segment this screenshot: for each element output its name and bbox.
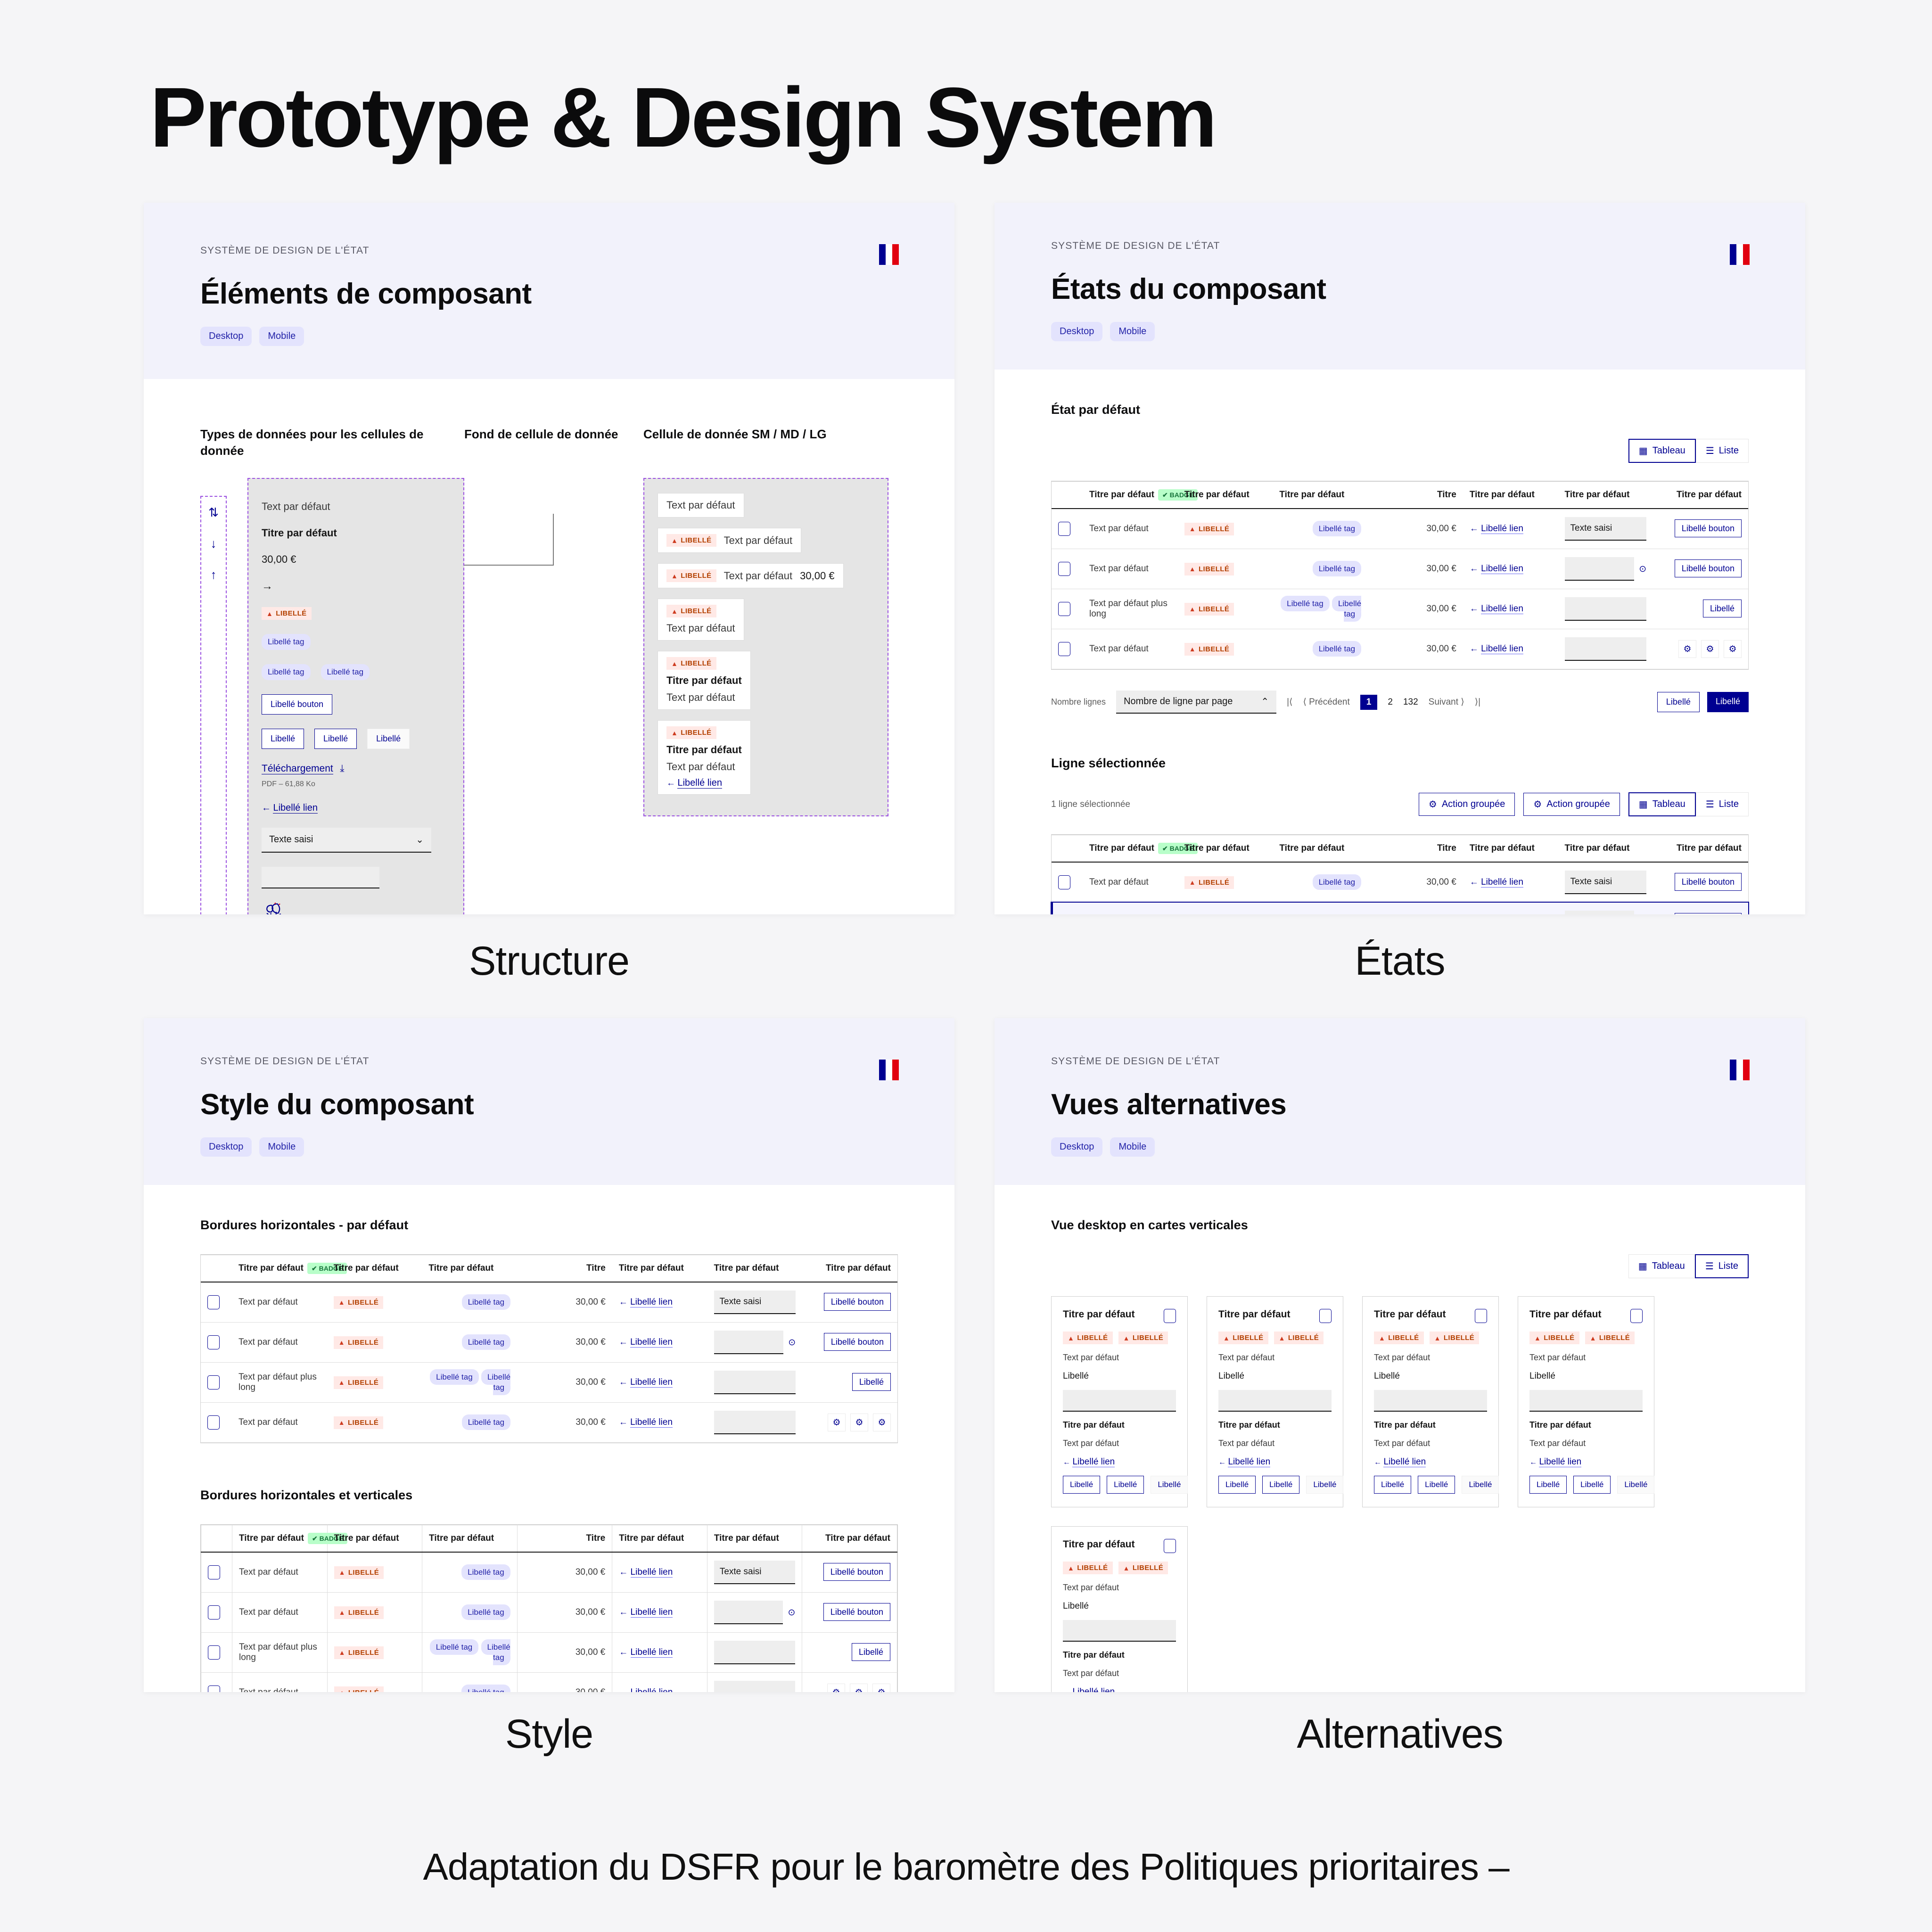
tag-chip[interactable]: Libellé tag (1281, 596, 1330, 611)
card-text: Text par défaut (1063, 1583, 1176, 1593)
row-checkbox-cell[interactable] (1052, 629, 1083, 669)
sample-button[interactable]: Libellé bouton (262, 694, 332, 715)
warning-triangle-icon: ▲ (1534, 1334, 1541, 1342)
cell-tags: Libellé tag (422, 1282, 517, 1323)
th-1[interactable]: Titre par défaut (1178, 482, 1273, 509)
chevron-down-icon: ⌄ (416, 834, 424, 846)
cell-alert: LIBELLÉ (681, 572, 711, 580)
row-link[interactable]: Libellé lien (630, 1417, 673, 1428)
tag-chip[interactable]: Libellé tag (1313, 874, 1362, 890)
row-link[interactable]: Libellé lien (630, 1297, 673, 1307)
th-3[interactable]: Titre (517, 1525, 612, 1553)
cell-action: Libellé bouton (802, 1282, 897, 1323)
viewport-chips: Desktop Mobile (1051, 1137, 1749, 1157)
back-link-block: ← Libellé lien (262, 803, 318, 814)
card-button-2[interactable]: Libellé (1418, 1476, 1455, 1494)
cell-tags: Libellé tag (1273, 629, 1368, 669)
row-link[interactable]: Libellé lien (631, 1687, 673, 1692)
row-action-button[interactable]: Libellé (852, 1643, 890, 1661)
tab-liste[interactable]: ☰Liste (1696, 439, 1749, 463)
chip-mobile[interactable]: Mobile (259, 1137, 304, 1157)
warning-triangle-icon: ▲ (671, 572, 678, 580)
list-icon: ☰ (1705, 1260, 1714, 1272)
row-checkbox-cell[interactable] (1052, 903, 1083, 915)
pager-button-secondary[interactable]: Libellé (1657, 692, 1700, 712)
gear-icon: ⚙ (1429, 798, 1437, 810)
row-checkbox-cell[interactable] (201, 1282, 232, 1323)
chip-desktop[interactable]: Desktop (1051, 1137, 1102, 1157)
row-checkbox-cell[interactable] (201, 1552, 232, 1593)
row-link[interactable]: Libellé lien (1481, 524, 1523, 534)
card-checkbox[interactable] (1630, 1309, 1643, 1323)
cell-link: ← Libellé lien (612, 1593, 707, 1633)
prev-page-button[interactable]: ⟨ Précédent (1303, 697, 1349, 707)
th-4[interactable]: Titre par défaut (612, 1255, 707, 1283)
table-row[interactable]: Text par défaut ▲LIBELLÉ Libellé tag 30,… (1052, 549, 1748, 589)
th-5[interactable]: Titre par défaut (1558, 482, 1653, 509)
help-circle-icon[interactable]: ⊙ (788, 1337, 796, 1348)
card-button-2[interactable]: Libellé (1262, 1476, 1299, 1494)
tag-chip[interactable]: Libellé tag (481, 1369, 510, 1395)
table-row[interactable]: Text par défaut ▲LIBELLÉ Libellé tag 30,… (1052, 903, 1748, 915)
row-text-input[interactable]: Texte saisi (1565, 517, 1647, 541)
th-select-all (1052, 835, 1083, 863)
th-3[interactable]: Titre (517, 1255, 612, 1283)
card-checkbox[interactable] (1164, 1539, 1176, 1553)
first-page-icon[interactable]: |⟨ (1287, 697, 1292, 707)
row-link[interactable]: Libellé lien (1481, 604, 1523, 614)
th-4[interactable]: Titre par défaut (1463, 835, 1558, 863)
chip-desktop[interactable]: Desktop (1051, 322, 1102, 341)
cell-price: 30,00 € (1368, 549, 1463, 589)
arrow-down-icon[interactable]: ↓ (211, 537, 217, 550)
card-button-3[interactable]: Libellé (1462, 1476, 1499, 1494)
row-action-button[interactable]: Libellé bouton (1675, 559, 1742, 577)
cell-text: Text par défaut (666, 499, 735, 511)
row-checkbox[interactable] (208, 1565, 220, 1579)
table-row[interactable]: Text par défaut ▲LIBELLÉ Libellé tag 30,… (1052, 629, 1748, 669)
th-2[interactable]: Titre par défaut (422, 1525, 518, 1553)
th-6[interactable]: Titre par défaut (1653, 482, 1748, 509)
arrow-left-icon: ← (619, 1297, 628, 1307)
table-row[interactable]: Text par défaut ▲LIBELLÉ Libellé tag 30,… (201, 1403, 897, 1443)
row-checkbox-cell[interactable] (201, 1403, 232, 1443)
view-toolbar: ▦Tableau ☰Liste (1051, 439, 1749, 463)
gear-icon[interactable]: ⚙ (1678, 640, 1696, 658)
tab-liste[interactable]: ☰Liste (1696, 792, 1749, 816)
row-checkbox[interactable] (208, 1605, 220, 1620)
cell-action: Libellé bouton (802, 1552, 897, 1593)
vertical-card[interactable]: Titre par défaut ▲LIBELLÉ▲LIBELLÉ Text p… (1051, 1526, 1188, 1692)
row-text-input[interactable] (714, 1681, 796, 1692)
th-6[interactable]: Titre par défaut (802, 1255, 897, 1283)
next-page-button[interactable]: Suivant ⟩ (1429, 697, 1464, 707)
cell-price: 30,00 € (1368, 862, 1463, 903)
tag-chip[interactable]: Libellé tag (262, 634, 311, 650)
vertical-card[interactable]: Titre par défaut ▲LIBELLÉ▲LIBELLÉ Text p… (1362, 1296, 1499, 1507)
row-text-input[interactable]: Texte saisi (1565, 871, 1647, 894)
vertical-card[interactable]: Titre par défaut ▲LIBELLÉ▲LIBELLÉ Text p… (1051, 1296, 1188, 1507)
cell-alert: ▲LIBELLÉ (1178, 903, 1273, 915)
th-3[interactable]: Titre (1368, 482, 1463, 509)
card-text-input[interactable] (1529, 1390, 1643, 1412)
warning-triangle-icon: ▲ (339, 1609, 345, 1616)
gear-icon[interactable]: ⚙ (1724, 640, 1742, 658)
row-action-button[interactable]: Libellé bouton (824, 1333, 891, 1351)
row-link[interactable]: Libellé lien (1481, 877, 1523, 888)
th-2[interactable]: Titre par défaut (1273, 835, 1368, 863)
table-wrapper-selected: Titre par défaut✔ BADGE Titre par défaut… (1051, 834, 1749, 914)
table-row[interactable]: Text par défaut ▲LIBELLÉ Libellé tag 30,… (201, 1323, 897, 1363)
gear-icon[interactable]: ⚙ (828, 1414, 846, 1431)
row-action-button[interactable]: Libellé (852, 1373, 891, 1391)
row-text-input[interactable] (714, 1411, 796, 1434)
french-flag-icon (879, 1060, 899, 1080)
row-link[interactable]: Libellé lien (1481, 564, 1523, 574)
button-primary-outline[interactable]: Libellé (262, 729, 304, 749)
chip-desktop[interactable]: Desktop (200, 1137, 252, 1157)
mock-window-structure: SYSTÈME DE DESIGN DE L'ÉTAT Éléments de … (144, 203, 954, 914)
card-button-3[interactable]: Libellé (1617, 1476, 1654, 1494)
cell-variant-text: Text par défaut (658, 493, 744, 518)
warning-triangle-icon: ▲ (1189, 645, 1196, 653)
card-sub-title: Titre par défaut (1063, 1650, 1176, 1660)
th-5[interactable]: Titre par défaut (1558, 835, 1653, 863)
selection-toolbar: 1 ligne sélectionnée ⚙Action groupée ⚙Ac… (1051, 792, 1749, 816)
card-checkbox[interactable] (1319, 1309, 1332, 1323)
card-text-input[interactable] (1374, 1390, 1487, 1412)
row-checkbox[interactable] (1058, 642, 1070, 656)
tag-chip[interactable]: Libellé tag (481, 1639, 510, 1665)
gear-icon[interactable]: ⚙ (873, 1414, 891, 1431)
row-text-input[interactable] (714, 1371, 796, 1394)
cell-link[interactable]: Libellé lien (677, 778, 722, 789)
row-checkbox[interactable] (1058, 562, 1070, 576)
cell-variant-alert-stack: ▲LIBELLÉ Text par défaut (658, 599, 744, 641)
card-field-label: Libellé (1218, 1371, 1332, 1381)
th-2[interactable]: Titre par défaut (422, 1255, 517, 1283)
style-body: Bordures horizontales - par défaut Titre… (144, 1185, 954, 1692)
row-link[interactable]: Libellé lien (630, 1337, 673, 1348)
row-checkbox[interactable] (207, 1415, 220, 1430)
card-link[interactable]: Libellé lien (1539, 1457, 1581, 1467)
th-1[interactable]: Titre par défaut (327, 1255, 422, 1283)
viewport-chips: Desktop Mobile (1051, 322, 1749, 341)
table-row[interactable]: Text par défaut ▲LIBELLÉ Libellé tag 30,… (201, 1673, 897, 1693)
warning-triangle-icon: ▲ (1189, 605, 1196, 613)
arrow-left-icon: ← (619, 1647, 628, 1657)
row-checkbox[interactable] (208, 1645, 220, 1660)
back-link[interactable]: Libellé lien (273, 803, 318, 814)
tag-chip[interactable]: Libellé tag (430, 1369, 479, 1385)
th-5[interactable]: Titre par défaut (707, 1255, 803, 1283)
bulk-action-2[interactable]: ⚙Action groupée (1523, 793, 1620, 816)
table-row[interactable]: Text par défaut ▲LIBELLÉ Libellé tag 30,… (201, 1282, 897, 1323)
chip-mobile[interactable]: Mobile (259, 327, 304, 346)
row-text-input[interactable] (1565, 557, 1635, 581)
th-4[interactable]: Titre par défaut (612, 1525, 707, 1553)
row-checkbox[interactable] (207, 1295, 220, 1309)
data-cell-samples: Text par défaut Titre par défaut 30,00 €… (247, 478, 464, 914)
mock-window-etats: SYSTÈME DE DESIGN DE L'ÉTAT États du com… (995, 203, 1805, 914)
th-2[interactable]: Titre par défaut (1273, 482, 1368, 509)
text-input[interactable] (262, 867, 379, 888)
gear-icon[interactable]: ⚙ (850, 1414, 868, 1431)
arrow-left-icon: ← (1470, 877, 1479, 887)
tag-chip[interactable]: Libellé tag (461, 1564, 510, 1580)
th-select-all (1052, 482, 1083, 509)
arrow-left-icon: ← (1529, 1458, 1537, 1466)
page-2[interactable]: 2 (1388, 697, 1393, 707)
row-action-button[interactable]: Libellé bouton (1675, 873, 1742, 891)
card-alert-tags: ▲LIBELLÉ▲LIBELLÉ (1063, 1562, 1176, 1574)
cell-link: ← Libellé lien (612, 1323, 707, 1363)
page-132[interactable]: 132 (1403, 697, 1418, 707)
row-checkbox[interactable] (1058, 602, 1070, 616)
th-1[interactable]: Titre par défaut (327, 1525, 422, 1553)
row-text-input[interactable]: Texte saisi (714, 1561, 796, 1584)
card-link[interactable]: Libellé lien (1072, 1457, 1115, 1467)
card-button-1[interactable]: Libellé (1374, 1476, 1411, 1494)
cell-price: 30,00 € (517, 1593, 612, 1633)
structure-col2-title: Fond de cellule de donnée (464, 426, 643, 462)
pager-button-primary[interactable]: Libellé (1707, 692, 1749, 712)
dsfr-eyebrow: SYSTÈME DE DESIGN DE L'ÉTAT (200, 1056, 898, 1067)
data-table-hborders: Titre par défaut✔ BADGE Titre par défaut… (201, 1255, 897, 1443)
row-text-input[interactable] (1565, 911, 1635, 914)
card-alert-tags: ▲LIBELLÉ▲LIBELLÉ (1218, 1332, 1332, 1344)
panel-caption-alternatives: Alternatives (995, 1711, 1805, 1758)
card-buttons: Libellé Libellé Libellé (1529, 1476, 1643, 1494)
row-text-input[interactable] (714, 1601, 783, 1624)
row-checkbox[interactable] (207, 1375, 220, 1389)
row-checkbox[interactable] (207, 1335, 220, 1349)
sort-controls[interactable]: ⇅ ↓ ↑ (200, 496, 227, 914)
row-link[interactable]: Libellé lien (1481, 644, 1523, 654)
tag-chip[interactable]: Libellé tag (462, 1334, 511, 1350)
row-checkbox[interactable] (1058, 875, 1070, 889)
table-row[interactable]: Text par défaut plus long ▲LIBELLÉ Libel… (201, 1633, 897, 1673)
th-0[interactable]: Titre par défaut✔ BADGE (232, 1525, 328, 1553)
row-action-button[interactable]: Libellé bouton (1675, 913, 1742, 914)
chip-mobile[interactable]: Mobile (1110, 322, 1155, 341)
th-5[interactable]: Titre par défaut (707, 1525, 802, 1553)
view-switcher: ▦Tableau ☰Liste (1628, 439, 1749, 463)
row-link[interactable]: Libellé lien (630, 1377, 673, 1388)
card-button-2[interactable]: Libellé (1573, 1476, 1611, 1494)
vertical-card[interactable]: Titre par défaut ▲LIBELLÉ▲LIBELLÉ Text p… (1518, 1296, 1654, 1507)
tab-liste-label: Liste (1719, 445, 1739, 456)
cell-link: ← Libellé lien (1463, 549, 1558, 589)
row-text-input[interactable] (714, 1331, 784, 1354)
card-link[interactable]: Libellé lien (1383, 1457, 1426, 1467)
table-row[interactable]: Text par défaut plus long ▲LIBELLÉ Libel… (201, 1363, 897, 1403)
tag-chip[interactable]: Libellé tag (462, 1294, 511, 1310)
row-action-button[interactable]: Libellé bouton (1675, 519, 1742, 537)
french-flag-icon (1730, 1060, 1750, 1080)
th-0[interactable]: Titre par défaut✔ BADGE (232, 1255, 327, 1283)
card-link[interactable]: Libellé lien (1072, 1687, 1115, 1692)
page-nav: |⟨ ⟨ Précédent 1 2 132 Suivant ⟩ ⟩| (1287, 695, 1480, 710)
cell-price: 30,00 € (517, 1403, 612, 1443)
card-button-1[interactable]: Libellé (1218, 1476, 1256, 1494)
tag-chip[interactable]: Libellé tag (262, 664, 311, 680)
last-page-icon[interactable]: ⟩| (1475, 697, 1480, 707)
card-button-1[interactable]: Libellé (1063, 1476, 1100, 1494)
tab-tableau[interactable]: ▦Tableau (1628, 1254, 1695, 1278)
card-link[interactable]: Libellé lien (1228, 1457, 1270, 1467)
vertical-card[interactable]: Titre par défaut ▲LIBELLÉ▲LIBELLÉ Text p… (1207, 1296, 1343, 1507)
card-button-1[interactable]: Libellé (1529, 1476, 1567, 1494)
card-text-input[interactable] (1063, 1620, 1176, 1642)
tab-tableau[interactable]: ▦Tableau (1628, 792, 1696, 816)
cell-text: Text par défaut (1083, 509, 1178, 549)
cell-price: 30,00 € (1368, 629, 1463, 669)
card-checkbox[interactable] (1164, 1309, 1176, 1323)
cell-tags: Libellé tag (422, 1323, 517, 1363)
chip-desktop[interactable]: Desktop (200, 327, 252, 346)
button-tertiary-ghost[interactable]: Libellé (367, 729, 410, 749)
card-button-3[interactable]: Libellé (1151, 1476, 1188, 1494)
row-text-input[interactable]: Texte saisi (714, 1291, 796, 1314)
page-title: Prototype & Design System (150, 75, 1216, 160)
card-text: Text par défaut (1374, 1353, 1487, 1363)
cell-tags: Libellé tag Libellé tag (422, 1363, 517, 1403)
row-checkbox-cell[interactable] (201, 1593, 232, 1633)
panel-etats: SYSTÈME DE DESIGN DE L'ÉTAT États du com… (995, 203, 1805, 985)
select-input[interactable]: Texte saisi ⌄ (262, 828, 431, 853)
gear-icon[interactable]: ⚙ (872, 1684, 890, 1692)
help-circle-icon[interactable]: ⊙ (1639, 564, 1646, 575)
tag-chip[interactable]: Libellé tag (462, 1414, 511, 1430)
card-text-input[interactable] (1063, 1390, 1176, 1412)
tab-liste[interactable]: ☰Liste (1695, 1254, 1749, 1278)
table-wrapper-default: Titre par défaut✔ BADGE Titre par défaut… (1051, 481, 1749, 670)
card-button-3[interactable]: Libellé (1306, 1476, 1343, 1494)
row-action-button[interactable]: Libellé bouton (824, 1293, 891, 1311)
download-link[interactable]: Téléchargement (262, 763, 333, 774)
row-checkbox-cell[interactable] (1052, 509, 1083, 549)
th-4[interactable]: Titre par défaut (1463, 482, 1558, 509)
tag-chip[interactable]: Libellé tag (1332, 596, 1361, 622)
viewport-chips: Desktop Mobile (200, 1137, 898, 1157)
arrow-left-icon: ← (1374, 1458, 1381, 1466)
row-checkbox-cell[interactable] (201, 1363, 232, 1403)
th-1[interactable]: Titre par défaut (1178, 835, 1273, 863)
button-secondary-outline[interactable]: Libellé (314, 729, 357, 749)
table-body-hvborders: Text par défaut ▲LIBELLÉ Libellé tag 30,… (201, 1552, 897, 1692)
table-row[interactable]: Text par défaut ▲LIBELLÉ Libellé tag 30,… (201, 1593, 897, 1633)
cell-text: Text par défaut (666, 622, 735, 634)
table-row[interactable]: Text par défaut ▲LIBELLÉ Libellé tag 30,… (1052, 509, 1748, 549)
card-button-2[interactable]: Libellé (1107, 1476, 1144, 1494)
warning-triangle-icon: ▲ (671, 660, 678, 667)
table-row[interactable]: Text par défaut ▲LIBELLÉ Libellé tag 30,… (201, 1552, 897, 1593)
th-0[interactable]: Titre par défaut✔ BADGE (1083, 482, 1178, 509)
row-action-button[interactable]: Libellé (1703, 600, 1742, 617)
cell-link: ← Libellé lien (1463, 629, 1558, 669)
bulk-action-1-label: Action groupée (1442, 799, 1505, 810)
dsfr-eyebrow: SYSTÈME DE DESIGN DE L'ÉTAT (1051, 240, 1749, 252)
cell-input (1558, 589, 1653, 629)
row-checkbox-cell[interactable] (201, 1673, 232, 1693)
card-checkbox[interactable] (1475, 1309, 1487, 1323)
row-checkbox[interactable] (208, 1685, 220, 1692)
cell-text: Text par défaut plus long (232, 1633, 328, 1673)
row-checkbox-cell[interactable] (201, 1633, 232, 1673)
tag-chip[interactable]: Libellé tag (461, 1604, 510, 1620)
warning-triangle-icon: ▲ (1379, 1334, 1385, 1342)
cell-text: Text par défaut (232, 1673, 328, 1693)
tag-chip[interactable]: Libellé tag (430, 1639, 479, 1655)
row-checkbox-cell[interactable] (1052, 549, 1083, 589)
th-3[interactable]: Titre (1368, 835, 1463, 863)
row-text-input[interactable] (714, 1641, 796, 1664)
th-6[interactable]: Titre par défaut (802, 1525, 897, 1553)
row-text-input[interactable] (1565, 597, 1647, 621)
tag-chip[interactable]: Libellé tag (1313, 521, 1362, 536)
card-buttons: Libellé Libellé Libellé (1374, 1476, 1487, 1494)
card-text-input[interactable] (1218, 1390, 1332, 1412)
chip-mobile[interactable]: Mobile (1110, 1137, 1155, 1157)
row-checkbox-cell[interactable] (1052, 589, 1083, 629)
alert-badge: ▲LIBELLÉ (262, 607, 312, 620)
row-checkbox[interactable] (1058, 522, 1070, 536)
pagination-default: Nombre lignes Nombre de ligne par page⌃ … (1051, 691, 1749, 714)
row-checkbox-cell[interactable] (201, 1323, 232, 1363)
bulk-action-1[interactable]: ⚙Action groupée (1419, 793, 1515, 816)
row-checkbox-cell[interactable] (1052, 862, 1083, 903)
cell-variant-alert-text-price: ▲LIBELLÉ Text par défaut 30,00 € (658, 563, 844, 588)
table-row[interactable]: Text par défaut plus long ▲LIBELLÉ Libel… (1052, 589, 1748, 629)
table-wrapper-hborders: Titre par défaut✔ BADGE Titre par défaut… (200, 1254, 898, 1443)
row-action-button[interactable]: Libellé bouton (823, 1563, 890, 1581)
sort-updown-icon[interactable]: ⇅ (208, 506, 219, 518)
arrow-up-icon[interactable]: ↑ (211, 568, 217, 581)
gear-icon[interactable]: ⚙ (850, 1684, 868, 1692)
row-link[interactable]: Libellé lien (631, 1647, 673, 1658)
cell-alert: LIBELLÉ (681, 729, 711, 737)
rows-per-page-select[interactable]: Nombre de ligne par page⌃ (1116, 691, 1276, 714)
cell-price: 30,00 € (517, 1633, 612, 1673)
cell-input: ⊙ (707, 1593, 802, 1633)
cell-text: Text par défaut plus long (232, 1363, 327, 1403)
cell-action: Libellé bouton (1653, 903, 1748, 915)
row-text-input[interactable] (1565, 637, 1647, 661)
cell-action: Libellé (1653, 589, 1748, 629)
gear-icon[interactable]: ⚙ (827, 1684, 845, 1692)
page-1[interactable]: 1 (1360, 695, 1378, 710)
row-link[interactable]: Libellé lien (631, 1607, 673, 1618)
tag-chip[interactable]: Libellé tag (461, 1685, 510, 1692)
th-0[interactable]: Titre par défaut✔ BADGE (1083, 835, 1178, 863)
table-header-row: Titre par défaut✔ BADGE Titre par défaut… (201, 1255, 897, 1283)
cell-alert: ▲LIBELLÉ (327, 1403, 422, 1443)
th-6[interactable]: Titre par défaut (1653, 835, 1748, 863)
tag-chip[interactable]: Libellé tag (321, 664, 370, 680)
tag-chip[interactable]: Libellé tag (1313, 561, 1362, 576)
table-row[interactable]: Text par défaut ▲LIBELLÉ Libellé tag 30,… (1052, 862, 1748, 903)
tag-chip[interactable]: Libellé tag (1313, 641, 1362, 657)
row-link[interactable]: Libellé lien (631, 1567, 673, 1578)
cell-text: Text par défaut (232, 1282, 327, 1323)
row-action-button[interactable]: Libellé bouton (823, 1603, 890, 1621)
help-circle-icon[interactable]: ⊙ (788, 1607, 795, 1618)
cell-alert: ▲LIBELLÉ (1178, 862, 1273, 903)
warning-triangle-icon: ▲ (1434, 1334, 1441, 1342)
tab-tableau[interactable]: ▦Tableau (1628, 439, 1696, 463)
gear-icon[interactable]: ⚙ (1701, 640, 1719, 658)
